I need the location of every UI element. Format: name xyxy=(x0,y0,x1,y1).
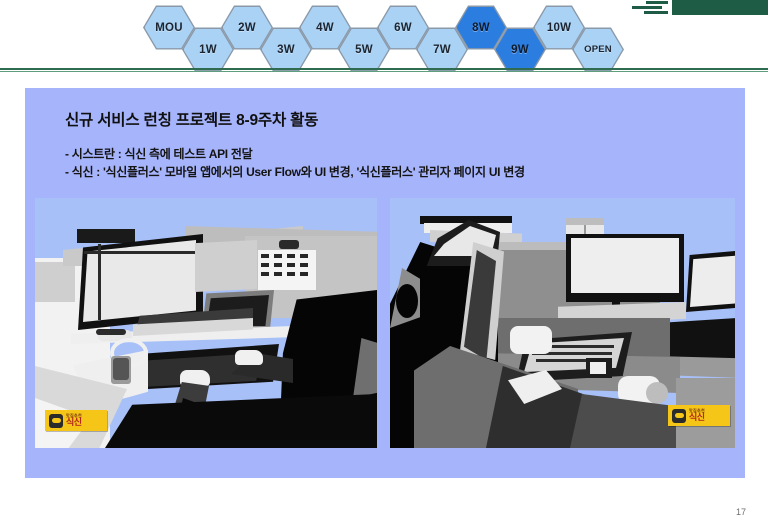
milestone-hex-fill: 9W xyxy=(496,29,545,71)
milestone-hex-fill: 4W xyxy=(301,7,350,49)
milestone-hex-fill: 2W xyxy=(223,7,272,49)
milestone-hex-fill: 5W xyxy=(340,29,389,71)
milestone-label: MOU xyxy=(155,22,182,34)
milestone-label: 6W xyxy=(394,22,412,34)
milestone-hex-fill: OPEN xyxy=(574,29,623,71)
bullet-item-1: - 시스트란 : 식신 측에 테스트 API 전달 xyxy=(65,145,252,162)
milestone-label: 9W xyxy=(511,44,529,56)
photo-desk-workstation-right: 맛집추천 식신 xyxy=(390,198,735,448)
milestone-hex-fill: 6W xyxy=(379,7,428,49)
milestone-hex-fill: 8W xyxy=(457,7,506,49)
milestone-label: 7W xyxy=(433,44,451,56)
milestone-timeline: MOU1W2W3W4W5W6W7W8W9W10WOPEN xyxy=(0,0,768,64)
slide-content-panel: 신규 서비스 런칭 프로젝트 8-9주차 활동 - 시스트란 : 식신 측에 테… xyxy=(25,88,745,478)
photo-desk-workstation-left: 맛집추천 식신 xyxy=(35,198,377,448)
milestone-label: 5W xyxy=(355,44,373,56)
milestone-hex-fill: MOU xyxy=(145,7,194,49)
page-title: 신규 서비스 런칭 프로젝트 8-9주차 활동 xyxy=(65,108,318,130)
milestone-label: 1W xyxy=(199,44,217,56)
milestone-hex-fill: 7W xyxy=(418,29,467,71)
milestone-label: 3W xyxy=(277,44,295,56)
milestone-hex-fill: 3W xyxy=(262,29,311,71)
milestone-label: OPEN xyxy=(584,44,612,55)
header-divider-line xyxy=(0,68,768,70)
watermark-brand: 식신 xyxy=(66,418,82,427)
page-number: 17 xyxy=(736,507,746,517)
watermark-brand: 식신 xyxy=(689,413,705,422)
header-divider-line-light xyxy=(0,71,768,72)
photo-watermark-left: 맛집추천 식신 xyxy=(45,410,107,431)
milestone-hex-fill: 10W xyxy=(535,7,584,49)
siksin-logo-icon xyxy=(49,414,63,428)
milestone-label: 4W xyxy=(316,22,334,34)
milestone-label: 2W xyxy=(238,22,256,34)
photo-watermark-right: 맛집추천 식신 xyxy=(668,405,730,426)
milestone-label: 10W xyxy=(547,22,571,34)
milestone-label: 8W xyxy=(472,22,490,34)
milestone-hex-fill: 1W xyxy=(184,29,233,71)
bullet-item-2: - 식신 : '식신플러스' 모바일 앱에서의 User Flow와 UI 변경… xyxy=(65,163,525,180)
siksin-logo-icon xyxy=(672,409,686,423)
